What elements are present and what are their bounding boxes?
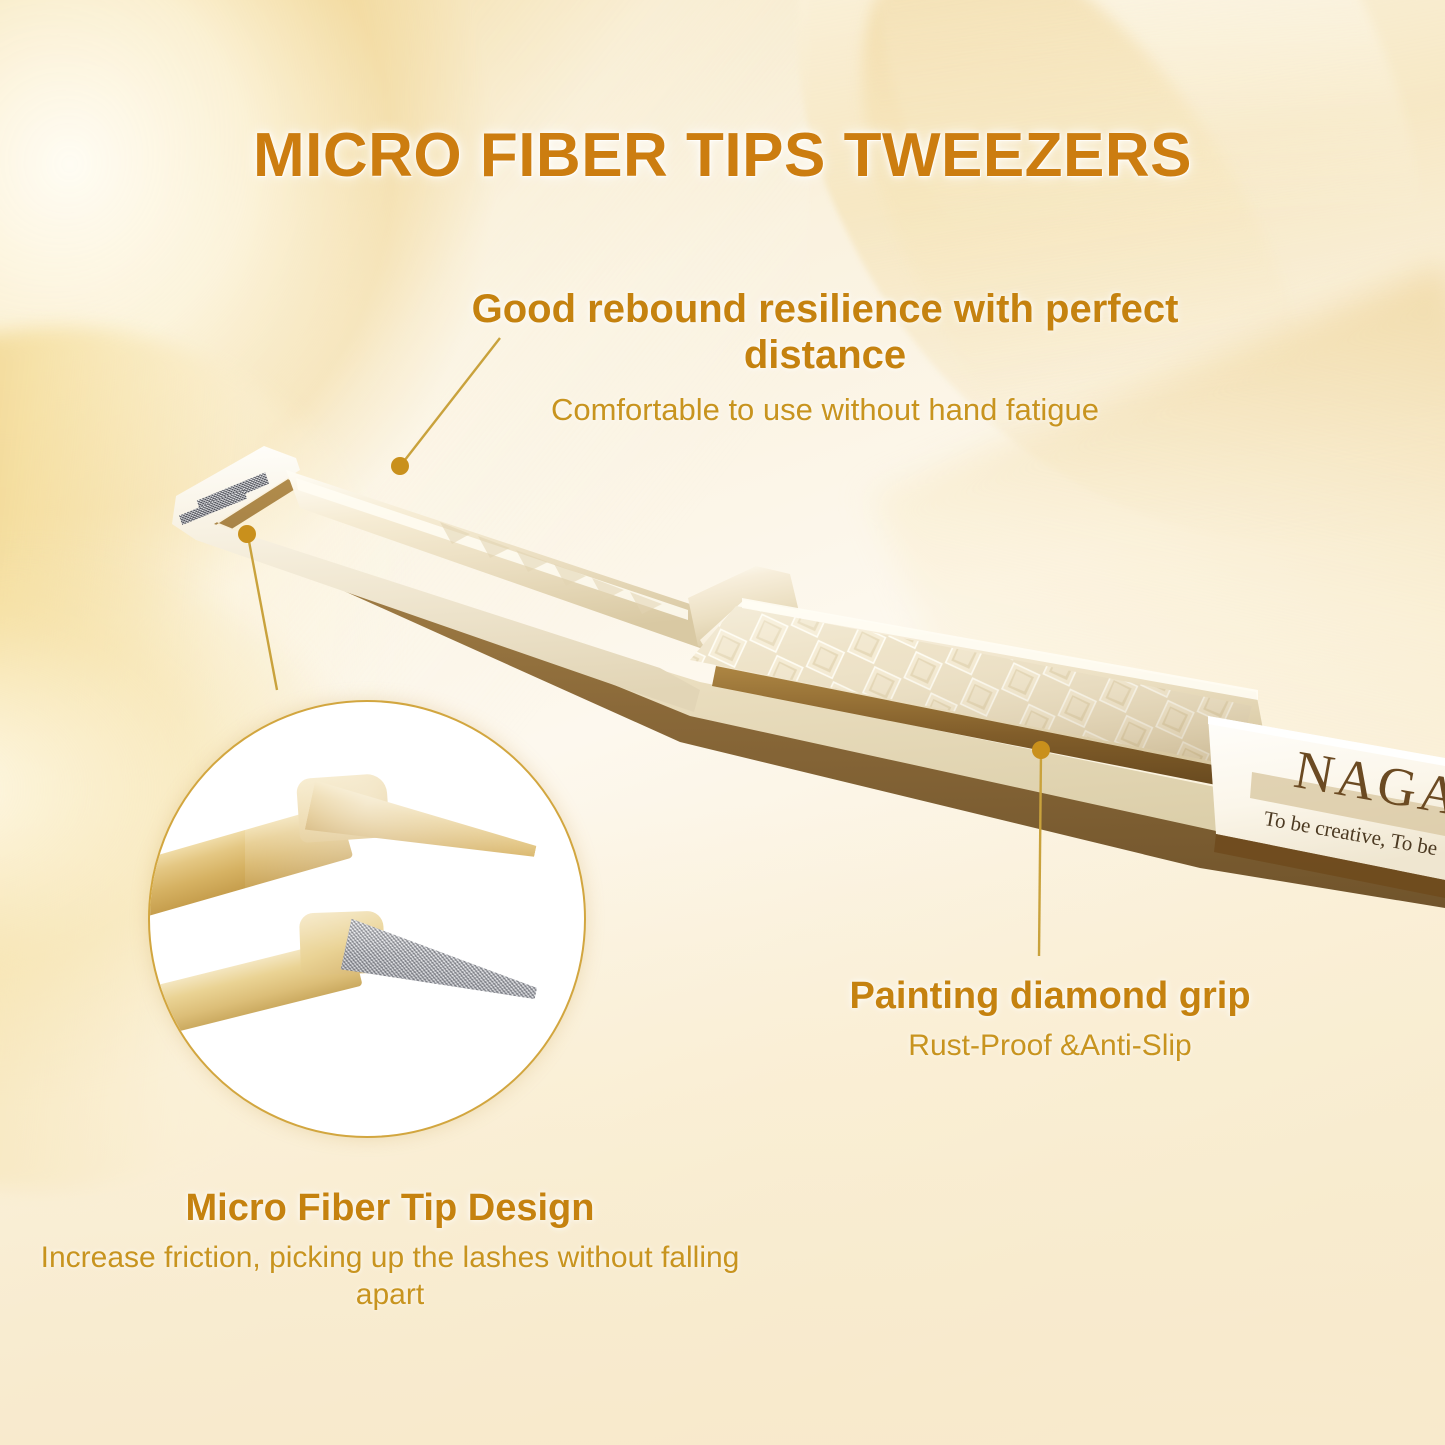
product-infographic: NAGA To be creative, To be MICRO FIBER T… — [0, 0, 1445, 1445]
callout-rebound-heading: Good rebound resilience with perfect dis… — [455, 286, 1195, 379]
page-title: MICRO FIBER TIPS TWEEZERS — [0, 120, 1445, 191]
magnifier-circle-inset — [148, 700, 586, 1138]
magnified-upper-arm-tip — [305, 781, 540, 878]
callout-tip: Micro Fiber Tip Design Increase friction… — [40, 1186, 740, 1313]
callout-grip: Painting diamond grip Rust-Proof &Anti-S… — [760, 974, 1340, 1065]
callout-grip-heading: Painting diamond grip — [760, 974, 1340, 1018]
callout-grip-subtext: Rust-Proof &Anti-Slip — [760, 1028, 1340, 1065]
callout-tip-subtext: Increase friction, picking up the lashes… — [40, 1240, 740, 1313]
callout-tip-heading: Micro Fiber Tip Design — [40, 1186, 740, 1230]
callout-rebound: Good rebound resilience with perfect dis… — [455, 286, 1195, 429]
magnified-micro-fiber-tip — [340, 917, 543, 1013]
callout-rebound-subtext: Comfortable to use without hand fatigue — [455, 391, 1195, 429]
